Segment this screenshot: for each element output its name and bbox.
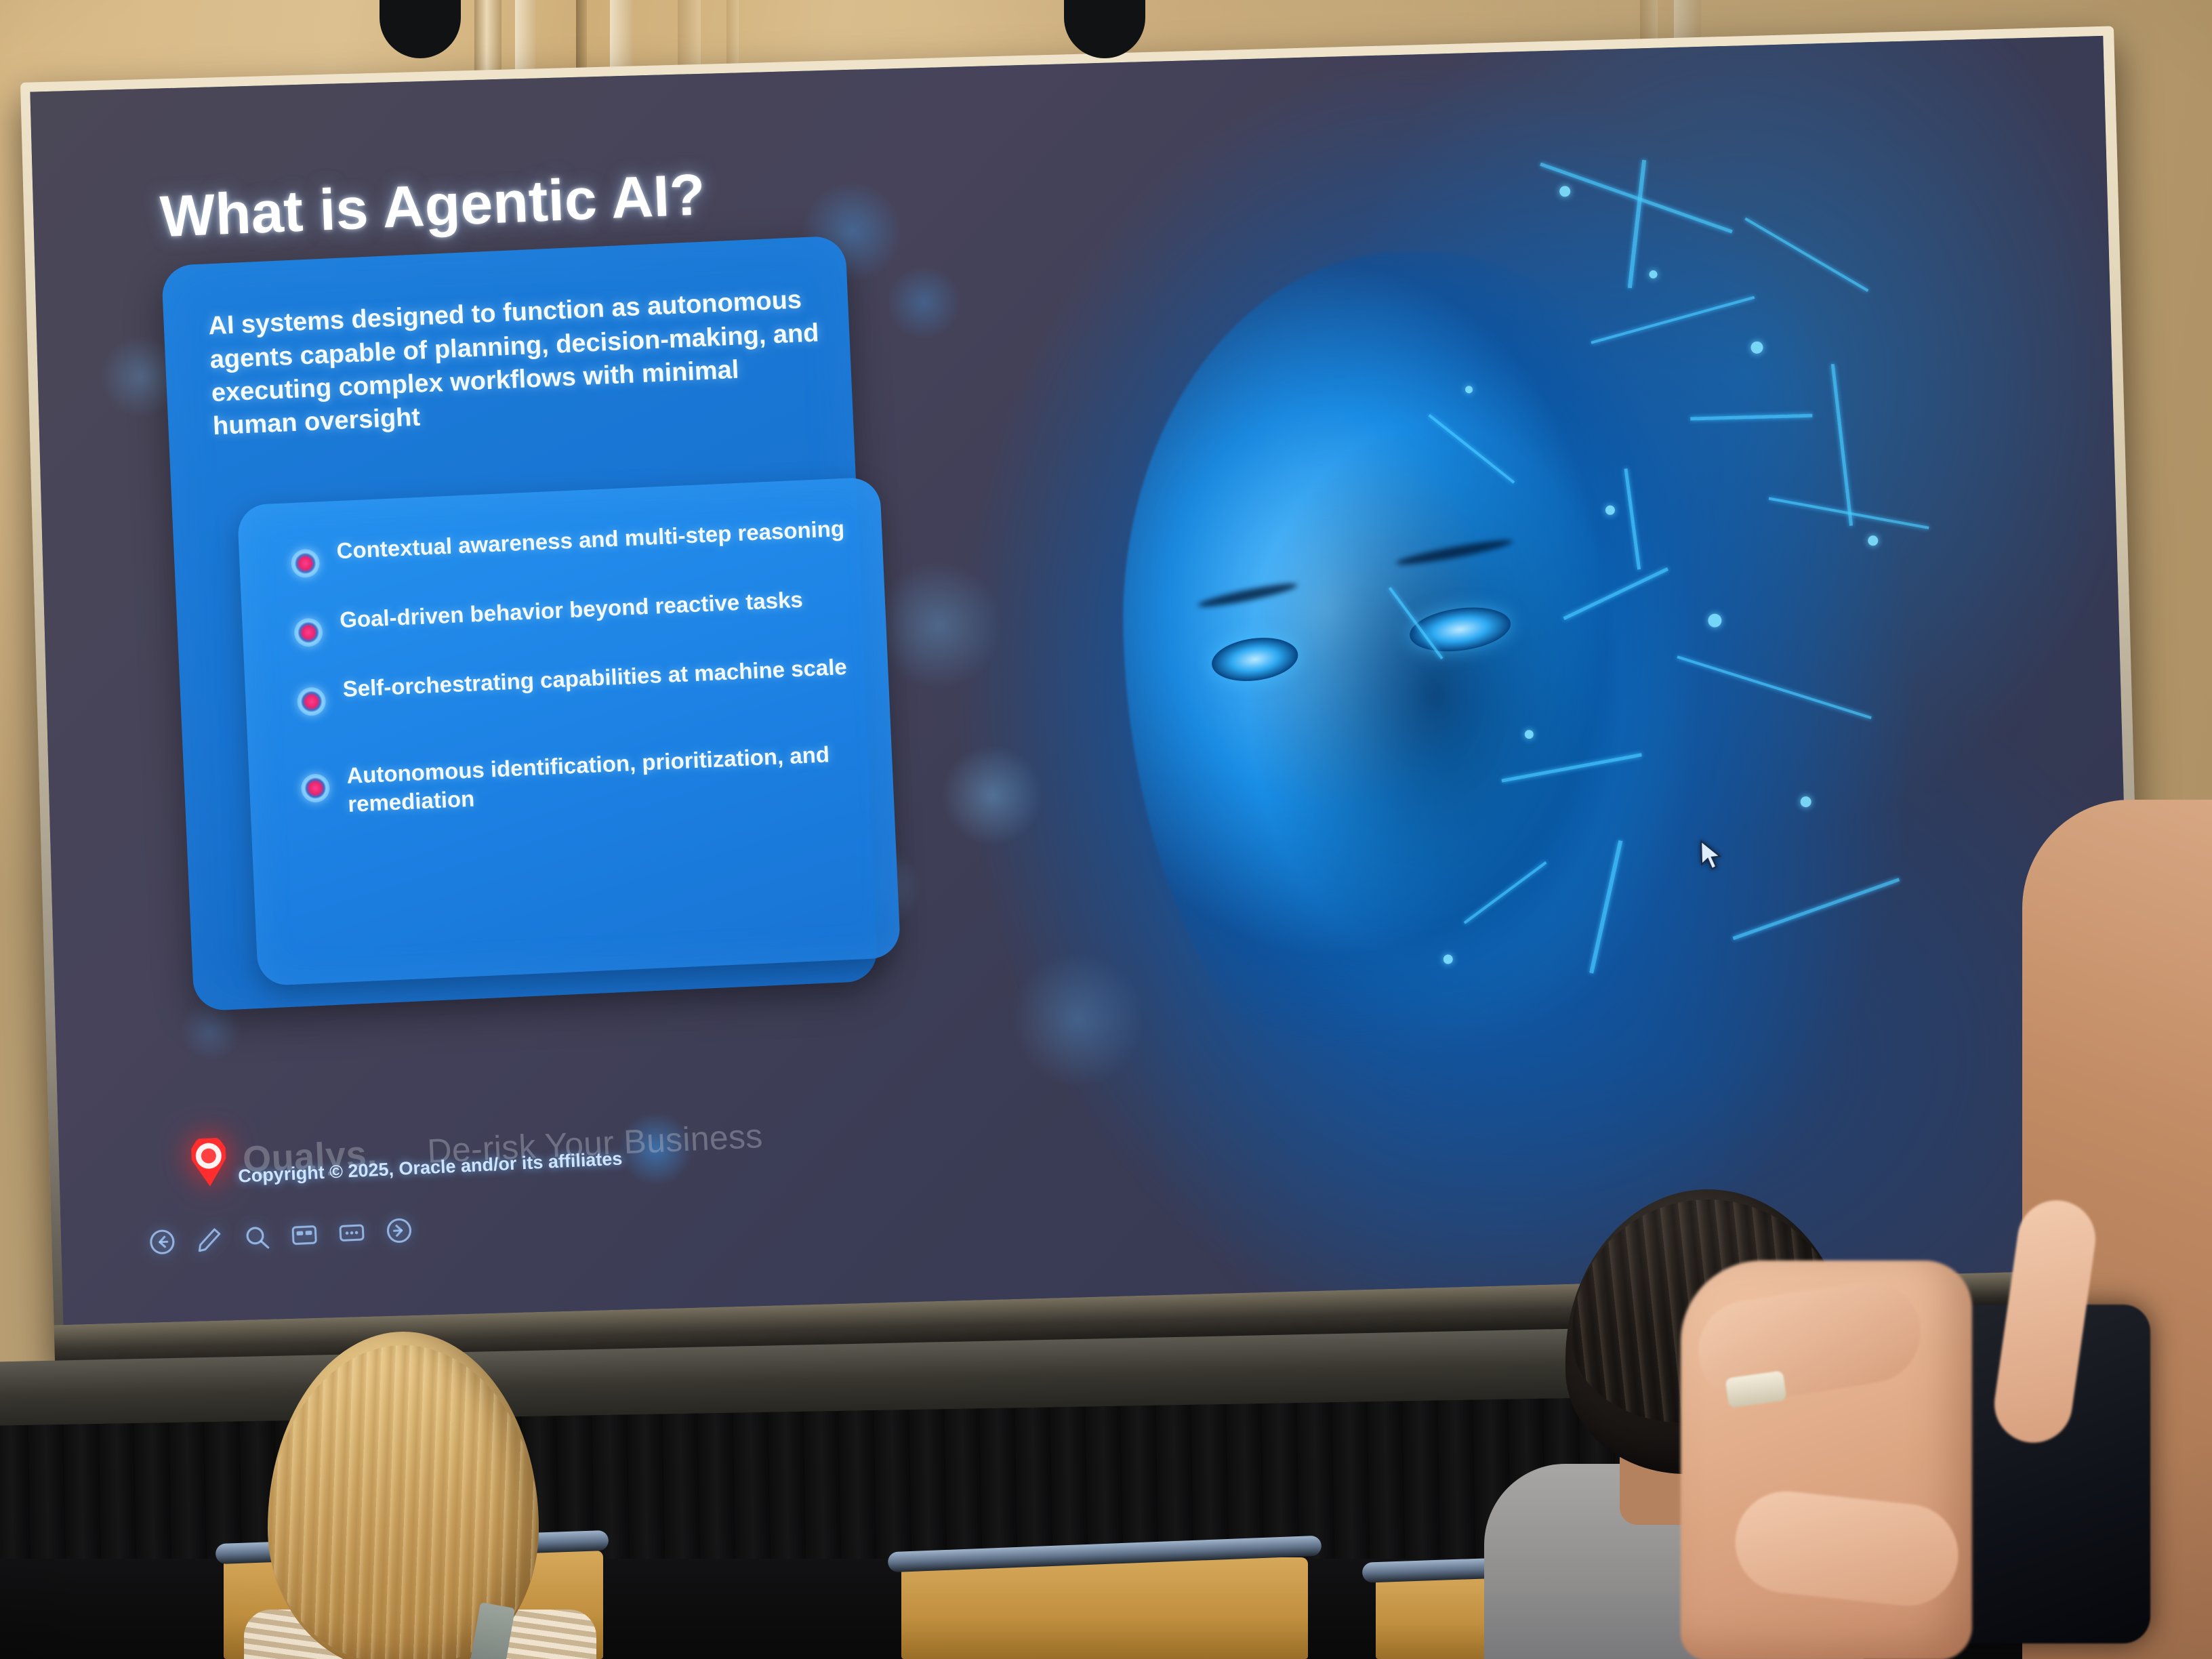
list-item: Goal-driven behavior beyond reactive tas… bbox=[293, 583, 860, 647]
zoom-tool-button[interactable] bbox=[241, 1221, 274, 1254]
slide-title: What is Agentic AI? bbox=[159, 161, 706, 251]
tv-screen: What is Agentic AI? AI systems designed … bbox=[30, 36, 2136, 1325]
banquet-chair bbox=[901, 1557, 1308, 1659]
bullet-list: Contextual awareness and multi-step reas… bbox=[290, 514, 869, 850]
list-item: Contextual awareness and multi-step reas… bbox=[290, 514, 857, 578]
presentation-display: What is Agentic AI? AI systems designed … bbox=[20, 26, 2148, 1370]
bullet-marker-icon bbox=[290, 549, 320, 579]
presentation-slide: What is Agentic AI? AI systems designed … bbox=[30, 36, 2136, 1325]
bullet-marker-icon bbox=[296, 687, 326, 716]
bullet-label: Contextual awareness and multi-step reas… bbox=[336, 514, 845, 565]
next-slide-button[interactable] bbox=[382, 1214, 416, 1248]
previous-slide-button[interactable] bbox=[146, 1225, 180, 1259]
list-item: Self-orchestrating capabilities at machi… bbox=[296, 652, 863, 716]
slide-footer: Qualys. De-risk Your Business Copyright … bbox=[188, 1111, 764, 1187]
more-options-button[interactable] bbox=[335, 1216, 369, 1250]
slideshow-toolbar[interactable] bbox=[146, 1214, 417, 1259]
bullet-label: Self-orchestrating capabilities at machi… bbox=[342, 653, 848, 703]
bullet-marker-icon bbox=[300, 773, 330, 803]
description-card: AI systems designed to function as auton… bbox=[161, 235, 878, 1011]
bullet-marker-icon bbox=[293, 617, 323, 647]
bullet-label: Goal-driven behavior beyond reactive tas… bbox=[339, 586, 803, 634]
all-slides-button[interactable] bbox=[287, 1218, 321, 1252]
artwork-circuit-traces bbox=[859, 36, 2137, 1303]
pen-tool-button[interactable] bbox=[193, 1223, 227, 1257]
list-item: Autonomous identification, prioritizatio… bbox=[300, 739, 867, 820]
slide-description: AI systems designed to function as auton… bbox=[207, 283, 825, 444]
bullet-label: Autonomous identification, prioritizatio… bbox=[346, 739, 867, 818]
qualys-logo-icon bbox=[188, 1135, 228, 1187]
ai-face-circuitry-artwork bbox=[859, 36, 2137, 1303]
bullet-list-card: Contextual awareness and multi-step reas… bbox=[237, 476, 901, 986]
conference-room-scene: What is Agentic AI? AI systems designed … bbox=[0, 0, 2212, 1659]
